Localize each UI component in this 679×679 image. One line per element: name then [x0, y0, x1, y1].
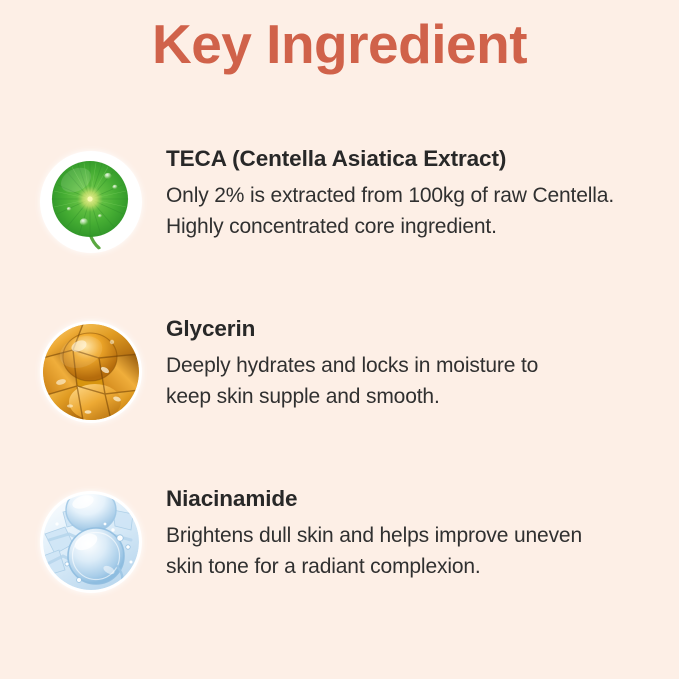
- ingredient-row-niacinamide: Niacinamide Brightens dull skin and help…: [0, 488, 679, 658]
- ingredient-name: Niacinamide: [166, 488, 666, 511]
- niacinamide-water-photo: [43, 494, 139, 590]
- key-ingredient-infographic: Key Ingredient: [0, 0, 679, 679]
- ingredient-text-glycerin: Glycerin Deeply hydrates and locks in mo…: [166, 318, 666, 413]
- ingredient-list: TECA (Centella Asiatica Extract) Only 2%…: [0, 148, 679, 658]
- ingredient-text-niacinamide: Niacinamide Brightens dull skin and help…: [166, 488, 666, 583]
- ingredient-description: Brightens dull skin and helps improve un…: [166, 520, 666, 584]
- ingredient-description: Deeply hydrates and locks in moisture to…: [166, 350, 666, 414]
- page-title: Key Ingredient: [0, 12, 679, 77]
- ingredient-row-teca: TECA (Centella Asiatica Extract) Only 2%…: [0, 148, 679, 318]
- ingredient-description: Only 2% is extracted from 100kg of raw C…: [166, 180, 666, 244]
- ingredient-text-teca: TECA (Centella Asiatica Extract) Only 2%…: [166, 148, 666, 243]
- ingredient-name: Glycerin: [166, 318, 666, 341]
- ingredient-row-glycerin: Glycerin Deeply hydrates and locks in mo…: [0, 318, 679, 488]
- glycerin-crystals-photo: [43, 324, 139, 420]
- ingredient-name: TECA (Centella Asiatica Extract): [166, 148, 666, 171]
- centella-leaf-photo: [43, 154, 139, 250]
